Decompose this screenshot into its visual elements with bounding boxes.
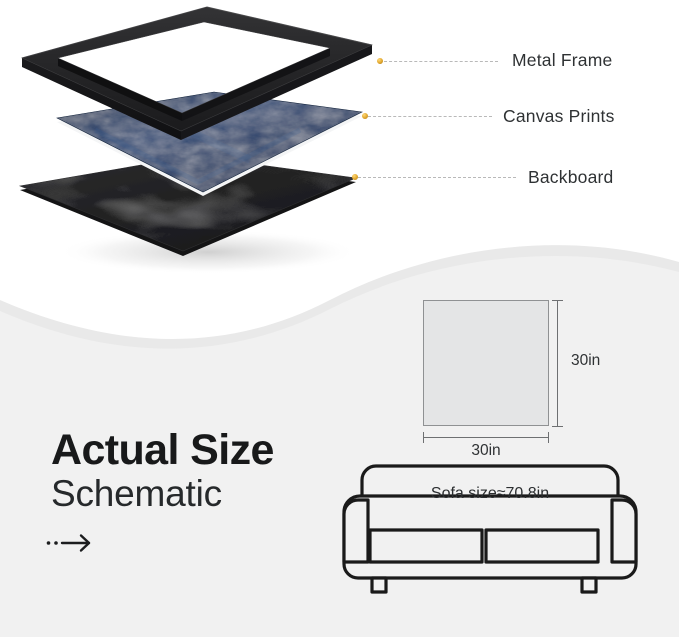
sofa-leg-right	[582, 578, 596, 592]
artwork-outline	[423, 300, 549, 426]
sofa-reference-illustration	[340, 452, 640, 600]
leader-line-metal-frame	[384, 61, 498, 62]
sofa-cushion-left	[370, 530, 482, 562]
dimension-label-height: 30in	[571, 352, 600, 370]
section-heading: Actual Size Schematic	[51, 429, 274, 515]
sofa-arm-right	[612, 500, 636, 562]
leader-line-backboard	[358, 177, 516, 178]
callout-label-canvas-prints: Canvas Prints	[503, 106, 615, 127]
sofa-arm-left	[344, 500, 368, 562]
dimension-cap-top	[552, 300, 563, 301]
product-infographic: Metal Frame Canvas Prints Backboard Actu…	[0, 0, 679, 637]
sofa-size-label: Sofa size≈70.8in	[340, 485, 640, 503]
connector-node-metal-frame	[377, 58, 383, 64]
connector-node-backboard	[352, 174, 358, 180]
dimension-line-vertical	[557, 300, 558, 426]
connector-node-canvas-prints	[362, 113, 368, 119]
callout-label-backboard: Backboard	[528, 167, 613, 188]
dimension-cap-bottom	[552, 426, 563, 427]
heading-primary: Actual Size	[51, 429, 274, 473]
artwork-size-schematic: 30in 30in	[415, 299, 615, 454]
callout-label-metal-frame: Metal Frame	[512, 50, 612, 71]
leader-line-canvas-prints	[368, 116, 492, 117]
sofa-cushion-right	[486, 530, 598, 562]
dotted-right-arrow-icon	[45, 530, 101, 556]
dimension-line-horizontal	[423, 437, 549, 438]
exploded-frame-diagram	[0, 0, 420, 275]
sofa-leg-left	[372, 578, 386, 592]
heading-secondary: Schematic	[51, 474, 274, 515]
